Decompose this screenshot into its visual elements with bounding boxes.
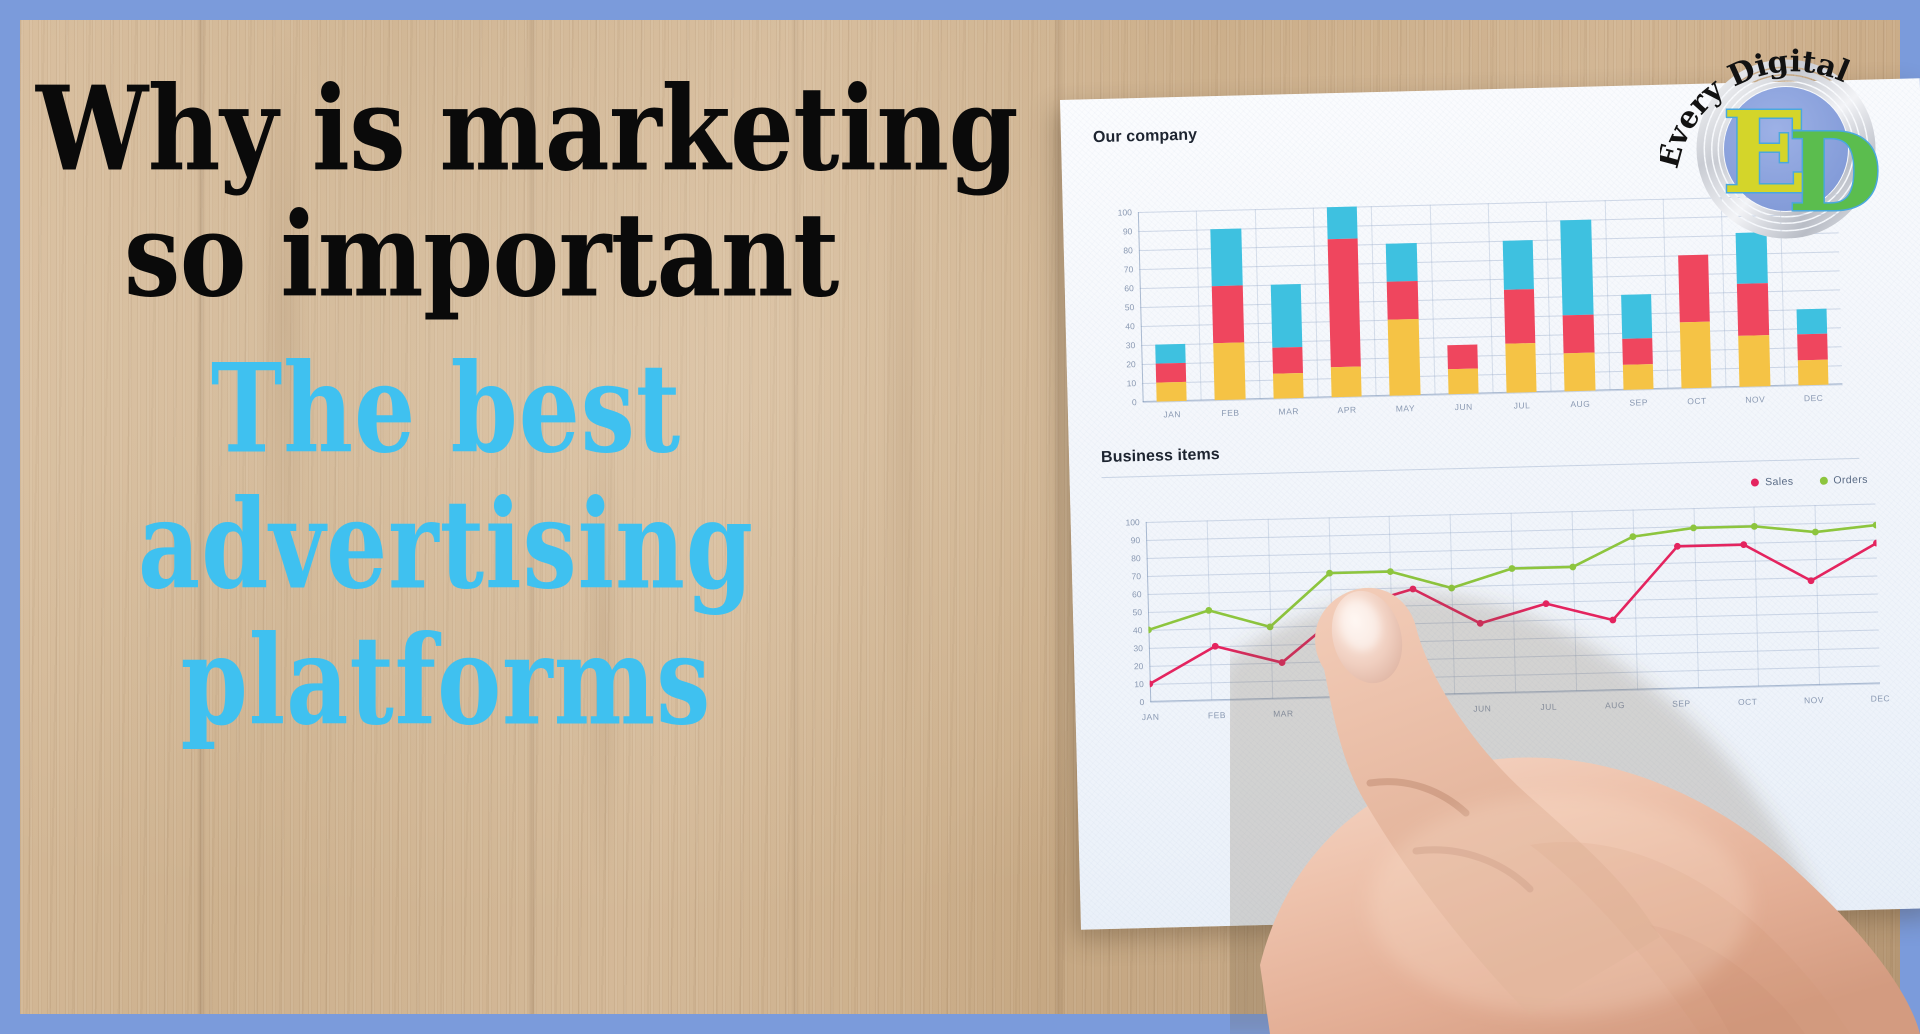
x-axis-tick: MAR bbox=[1273, 708, 1294, 719]
bar-segment bbox=[1447, 344, 1478, 369]
bar-segment bbox=[1273, 373, 1304, 398]
y-axis-tick: 80 bbox=[1131, 553, 1147, 563]
x-axis-tick: NOV bbox=[1745, 394, 1765, 405]
line-chart-legend: SalesOrders bbox=[1751, 474, 1868, 489]
bar-segment bbox=[1448, 369, 1479, 394]
x-axis-tick: OCT bbox=[1738, 697, 1758, 707]
x-axis-tick: SEP bbox=[1629, 397, 1648, 407]
line-chart-panel: Business items SalesOrders 0102030405060… bbox=[1099, 429, 1896, 749]
subhead-line-1: The best bbox=[36, 348, 856, 471]
bar-segment bbox=[1797, 360, 1828, 385]
line-data-point[interactable] bbox=[1509, 565, 1516, 572]
bar-segment bbox=[1212, 285, 1244, 343]
bar-segment bbox=[1155, 344, 1186, 364]
x-axis-tick: JAN bbox=[1142, 712, 1160, 722]
y-axis-tick: 10 bbox=[1127, 378, 1143, 388]
subhead-line-3: platforms bbox=[36, 620, 856, 743]
bar-column[interactable] bbox=[1678, 255, 1712, 389]
y-axis-tick: 30 bbox=[1133, 643, 1149, 653]
bar-segment bbox=[1156, 363, 1187, 383]
bar-segment bbox=[1564, 353, 1595, 392]
bar-column[interactable] bbox=[1503, 240, 1537, 393]
bar-segment bbox=[1621, 294, 1652, 338]
y-axis-tick: 40 bbox=[1133, 625, 1149, 635]
line-data-point[interactable] bbox=[1205, 607, 1212, 614]
y-axis-tick: 70 bbox=[1124, 264, 1140, 274]
bar-column[interactable] bbox=[1447, 344, 1479, 394]
bar-segment bbox=[1270, 284, 1302, 347]
line-data-point[interactable] bbox=[1448, 585, 1455, 592]
legend-label: Sales bbox=[1765, 476, 1794, 489]
y-axis-tick: 60 bbox=[1124, 283, 1140, 293]
x-axis-tick: JUN bbox=[1455, 402, 1473, 412]
subhead-block: The best advertising platforms bbox=[36, 348, 856, 756]
line-data-point[interactable] bbox=[1387, 568, 1394, 575]
bar-column[interactable] bbox=[1621, 294, 1654, 390]
bar-segment bbox=[1327, 207, 1358, 240]
bar-segment bbox=[1328, 239, 1362, 367]
y-axis-tick: 50 bbox=[1132, 607, 1148, 617]
bar-segment bbox=[1622, 338, 1653, 365]
bar-segment bbox=[1561, 220, 1594, 316]
x-axis-tick: APR bbox=[1340, 707, 1359, 717]
x-axis-tick: NOV bbox=[1804, 695, 1824, 706]
x-axis-tick: OCT bbox=[1687, 396, 1707, 406]
x-axis-tick: FEB bbox=[1221, 408, 1239, 418]
line-series-path bbox=[1147, 541, 1880, 684]
headline-block: Why is marketing so important bbox=[36, 72, 876, 296]
y-axis-tick: 20 bbox=[1126, 359, 1142, 369]
x-axis-tick: MAR bbox=[1278, 406, 1299, 417]
x-axis-tick: SEP bbox=[1672, 698, 1691, 708]
x-axis-tick: JUL bbox=[1514, 400, 1531, 410]
bar-segment bbox=[1623, 364, 1654, 389]
bar-segment bbox=[1505, 343, 1537, 393]
line-data-point[interactable] bbox=[1751, 523, 1758, 530]
headline-line-2: so important bbox=[36, 198, 876, 312]
line-data-point[interactable] bbox=[1873, 522, 1880, 529]
x-axis-tick: DEC bbox=[1871, 693, 1891, 703]
line-data-point[interactable] bbox=[1543, 600, 1550, 607]
x-axis-tick: MAY bbox=[1406, 705, 1426, 715]
bar-segment bbox=[1386, 243, 1417, 282]
bar-column[interactable] bbox=[1211, 228, 1246, 400]
bar-segment bbox=[1156, 382, 1187, 402]
bar-segment bbox=[1272, 347, 1303, 374]
bar-segment bbox=[1678, 255, 1710, 322]
y-axis-tick: 20 bbox=[1134, 661, 1150, 671]
bar-segment bbox=[1388, 319, 1420, 396]
y-axis-tick: 60 bbox=[1132, 589, 1148, 599]
line-chart-title: Business items bbox=[1101, 446, 1220, 467]
x-axis-tick: JUN bbox=[1473, 703, 1491, 713]
legend-item[interactable]: Orders bbox=[1819, 474, 1868, 487]
x-axis-tick: MAY bbox=[1396, 403, 1416, 413]
y-axis-tick: 90 bbox=[1131, 535, 1147, 545]
poster-frame: Why is marketing so important The best a… bbox=[0, 0, 1920, 1034]
y-axis-tick: 30 bbox=[1126, 340, 1142, 350]
legend-label: Orders bbox=[1833, 474, 1868, 487]
bar-chart-title: Our company bbox=[1093, 127, 1198, 148]
bar-segment bbox=[1797, 333, 1828, 360]
bar-column[interactable] bbox=[1386, 243, 1420, 396]
x-axis-tick: FEB bbox=[1208, 710, 1226, 720]
bar-segment bbox=[1796, 309, 1827, 334]
y-axis-tick: 100 bbox=[1125, 517, 1145, 528]
x-axis-tick: JUL bbox=[1540, 702, 1557, 712]
bar-segment bbox=[1737, 284, 1769, 336]
bar-segment bbox=[1563, 315, 1594, 354]
bar-column[interactable] bbox=[1327, 207, 1362, 398]
bar-column[interactable] bbox=[1736, 232, 1770, 387]
y-axis-tick: 40 bbox=[1125, 321, 1141, 331]
line-data-point[interactable] bbox=[1812, 529, 1819, 536]
bar-segment bbox=[1331, 366, 1362, 397]
bar-column[interactable] bbox=[1561, 220, 1596, 392]
bar-segment bbox=[1214, 342, 1246, 400]
line-chart-plot: 0102030405060708090100JANFEBMARAPRMAYJUN… bbox=[1146, 503, 1880, 701]
y-axis-tick: 80 bbox=[1123, 245, 1139, 255]
bar-segment bbox=[1387, 281, 1418, 320]
bar-segment bbox=[1211, 228, 1243, 286]
y-axis-tick: 10 bbox=[1134, 679, 1150, 689]
x-axis-tick: AUG bbox=[1570, 399, 1590, 410]
legend-swatch-icon bbox=[1819, 477, 1827, 485]
y-axis-tick: 50 bbox=[1125, 302, 1141, 312]
subhead-line-2: advertising bbox=[36, 484, 856, 607]
bar-segment bbox=[1680, 321, 1712, 388]
line-series-layer bbox=[1146, 503, 1880, 701]
y-axis-tick: 0 bbox=[1132, 397, 1143, 407]
logo-monogram-e: E bbox=[1722, 88, 1807, 219]
x-axis-tick: AUG bbox=[1605, 700, 1625, 711]
bar-segment bbox=[1504, 289, 1536, 343]
x-axis-tick: APR bbox=[1337, 405, 1356, 415]
line-data-point[interactable] bbox=[1690, 524, 1697, 531]
legend-swatch-icon bbox=[1751, 478, 1759, 486]
bar-segment bbox=[1739, 335, 1771, 387]
bar-column[interactable] bbox=[1155, 344, 1187, 402]
x-axis-tick: JAN bbox=[1163, 409, 1181, 419]
bar-column[interactable] bbox=[1270, 284, 1303, 399]
legend-item[interactable]: Sales bbox=[1751, 476, 1794, 489]
y-axis-tick: 90 bbox=[1123, 226, 1139, 236]
bar-segment bbox=[1503, 240, 1535, 290]
x-axis-tick: DEC bbox=[1804, 393, 1824, 403]
svg-text:E: E bbox=[1722, 88, 1807, 219]
y-axis-tick: 70 bbox=[1131, 571, 1147, 581]
every-digital-logo[interactable]: D E Every Digital bbox=[1660, 14, 1910, 244]
bar-column[interactable] bbox=[1796, 309, 1828, 386]
y-axis-tick: 0 bbox=[1139, 697, 1150, 707]
headline-line-1: Why is marketing bbox=[36, 72, 876, 186]
y-axis-tick: 100 bbox=[1118, 207, 1138, 218]
